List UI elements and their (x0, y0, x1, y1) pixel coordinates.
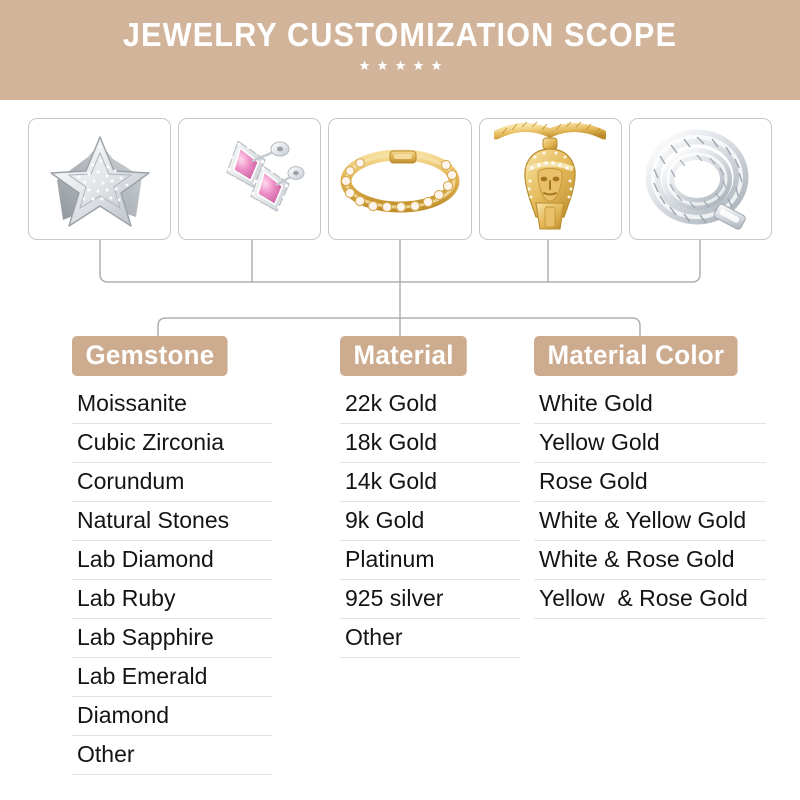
category-column-gemstone: Gemstone Moissanite Cubic Zirconia Corun… (72, 336, 272, 775)
list-item[interactable]: 22k Gold (340, 385, 520, 424)
list-item[interactable]: Lab Ruby (72, 580, 272, 619)
category-header-gemstone: Gemstone (72, 336, 228, 376)
category-column-material: Material 22k Gold 18k Gold 14k Gold 9k G… (340, 336, 520, 658)
list-item[interactable]: 925 silver (340, 580, 520, 619)
list-item[interactable]: Other (340, 619, 520, 658)
list-item[interactable]: 14k Gold (340, 463, 520, 502)
list-item[interactable]: Moissanite (72, 385, 272, 424)
list-item[interactable]: Lab Sapphire (72, 619, 272, 658)
category-header-material-color: Material Color (534, 336, 738, 376)
category-column-material-color: Material Color White Gold Yellow Gold Ro… (534, 336, 766, 619)
list-item[interactable]: Other (72, 736, 272, 775)
category-header-material: Material (340, 336, 467, 376)
list-item[interactable]: 9k Gold (340, 502, 520, 541)
list-item[interactable]: Yellow Gold (534, 424, 766, 463)
category-list-material: 22k Gold 18k Gold 14k Gold 9k Gold Plati… (340, 385, 520, 658)
list-item[interactable]: Yellow & Rose Gold (534, 580, 766, 619)
list-item[interactable]: Lab Emerald (72, 658, 272, 697)
list-item[interactable]: White Gold (534, 385, 766, 424)
list-item[interactable]: Diamond (72, 697, 272, 736)
list-item[interactable]: Lab Diamond (72, 541, 272, 580)
list-item[interactable]: Natural Stones (72, 502, 272, 541)
list-item[interactable]: 18k Gold (340, 424, 520, 463)
list-item[interactable]: White & Rose Gold (534, 541, 766, 580)
lower-bus (158, 318, 640, 336)
list-item[interactable]: Rose Gold (534, 463, 766, 502)
list-item[interactable]: Platinum (340, 541, 520, 580)
category-list-gemstone: Moissanite Cubic Zirconia Corundum Natur… (72, 385, 272, 775)
category-list-material-color: White Gold Yellow Gold Rose Gold White &… (534, 385, 766, 619)
list-item[interactable]: Corundum (72, 463, 272, 502)
list-item[interactable]: White & Yellow Gold (534, 502, 766, 541)
list-item[interactable]: Cubic Zirconia (72, 424, 272, 463)
